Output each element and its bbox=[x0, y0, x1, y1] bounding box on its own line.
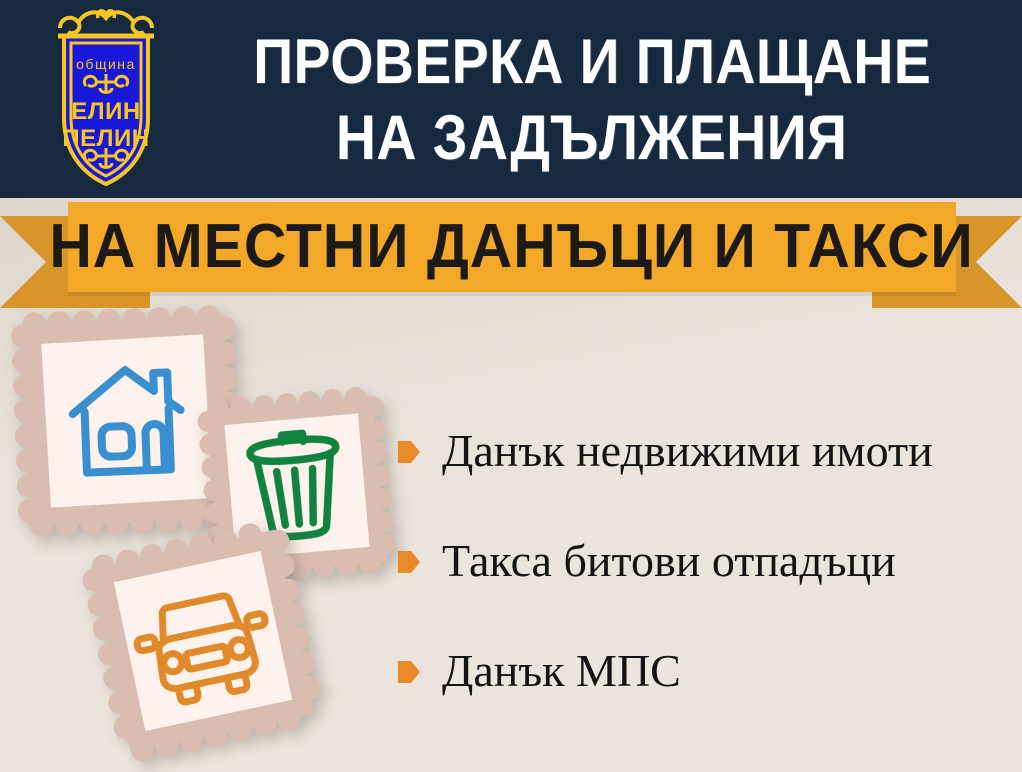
arrow-bullet-icon bbox=[398, 659, 420, 685]
list-item-label: Данък недвижими имоти bbox=[442, 424, 933, 478]
list-item-label: Такса битови отпадъци bbox=[442, 534, 896, 588]
arrow-bullet-icon bbox=[398, 439, 420, 465]
municipality-logo[interactable]: община ЕЛИН ПЕЛИН bbox=[38, 6, 174, 192]
vehicle-stamp bbox=[77, 515, 328, 766]
poster-header: община ЕЛИН ПЕЛИН bbox=[0, 0, 1022, 198]
ribbon-main-band: НА МЕСТНИ ДАНЪЦИ И ТАКСИ bbox=[68, 202, 956, 292]
svg-text:ПЕЛИН: ПЕЛИН bbox=[62, 125, 149, 152]
svg-text:ЕЛИН: ЕЛИН bbox=[71, 98, 140, 125]
page-title: ПРОВЕРКА И ПЛАЩАНЕ НА ЗАДЪЛЖЕНИЯ bbox=[178, 14, 1006, 186]
ribbon-banner: НА МЕСТНИ ДАНЪЦИ И ТАКСИ bbox=[0, 198, 1022, 310]
stamp-paper bbox=[41, 334, 212, 507]
tax-types-list: Данък недвижими имоти Такса битови отпад… bbox=[398, 420, 1018, 750]
list-item[interactable]: Такса битови отпадъци bbox=[398, 530, 1018, 592]
svg-text:община: община bbox=[76, 56, 136, 72]
list-item[interactable]: Данък МПС bbox=[398, 640, 1018, 702]
ribbon-label: НА МЕСТНИ ДАНЪЦИ И ТАКСИ bbox=[50, 216, 974, 278]
title-line-2: НА ЗАДЪЛЖЕНИЯ bbox=[336, 100, 847, 176]
poster-canvas: Данък недвижими имоти Такса битови отпад… bbox=[0, 0, 1022, 772]
list-item-label: Данък МПС bbox=[442, 644, 681, 698]
list-item[interactable]: Данък недвижими имоти bbox=[398, 420, 1018, 482]
arrow-bullet-icon bbox=[398, 549, 420, 575]
title-line-1: ПРОВЕРКА И ПЛАЩАНЕ bbox=[253, 24, 931, 100]
